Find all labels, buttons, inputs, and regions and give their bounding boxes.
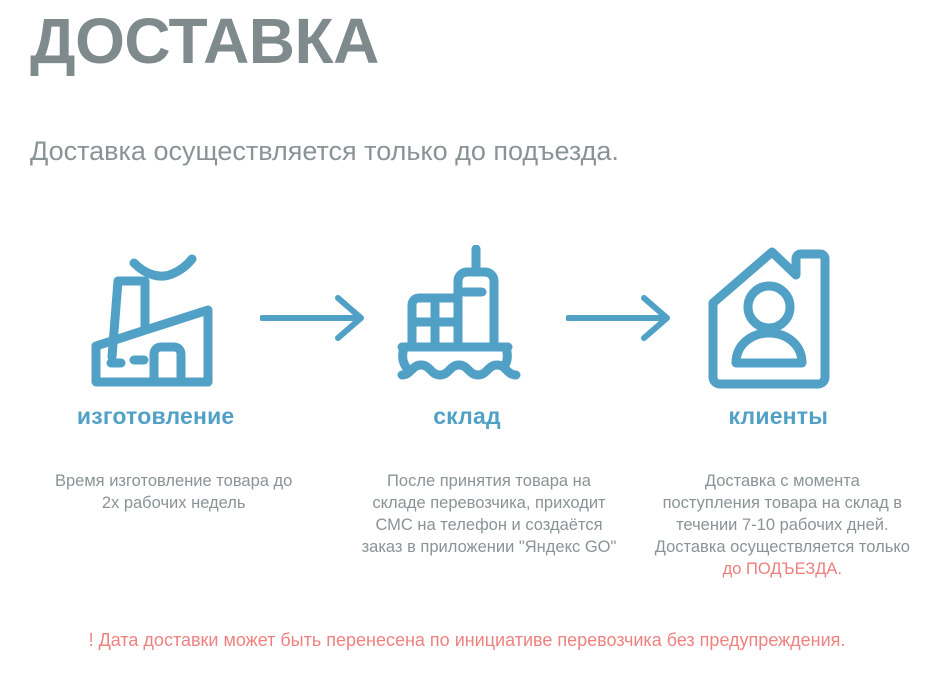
delivery-flow-diagram	[0, 243, 934, 393]
arrow-right-icon	[260, 294, 368, 342]
page-title: ДОСТАВКА	[30, 8, 379, 75]
factory-icon	[86, 245, 236, 391]
cargo-ship-icon	[396, 245, 538, 391]
flow-description-clients-highlight: до ПОДЪЕЗДА.	[723, 560, 842, 578]
house-client-icon	[706, 245, 840, 391]
delivery-info-slide: ДОСТАВКА Доставка осуществляется только …	[0, 0, 934, 700]
flow-description-warehouse: После принятия товара на складе перевозч…	[347, 470, 630, 558]
flow-labels-row: изготовление склад клиенты	[0, 403, 934, 430]
flow-step-clients	[680, 243, 866, 393]
footer-warning-note: ! Дата доставки может быть перенесена по…	[0, 628, 934, 652]
flow-arrow-1	[254, 288, 374, 348]
flow-description-manufacturing: Время изготовление товара до 2х рабочих …	[0, 470, 347, 514]
flow-label-manufacturing: изготовление	[0, 403, 311, 430]
flow-step-warehouse	[374, 243, 560, 393]
flow-arrow-2	[560, 288, 680, 348]
flow-description-clients-text: Доставка с момента поступления товара на…	[655, 472, 910, 556]
flow-label-warehouse: склад	[311, 403, 622, 430]
flow-descriptions-row: Время изготовление товара до 2х рабочих …	[0, 470, 934, 581]
flow-description-clients: Доставка с момента поступления товара на…	[631, 470, 934, 581]
flow-label-clients: клиенты	[623, 403, 934, 430]
flow-step-manufacturing	[68, 243, 254, 393]
page-subtitle: Доставка осуществляется только до подъез…	[30, 132, 650, 171]
arrow-right-icon	[566, 294, 674, 342]
